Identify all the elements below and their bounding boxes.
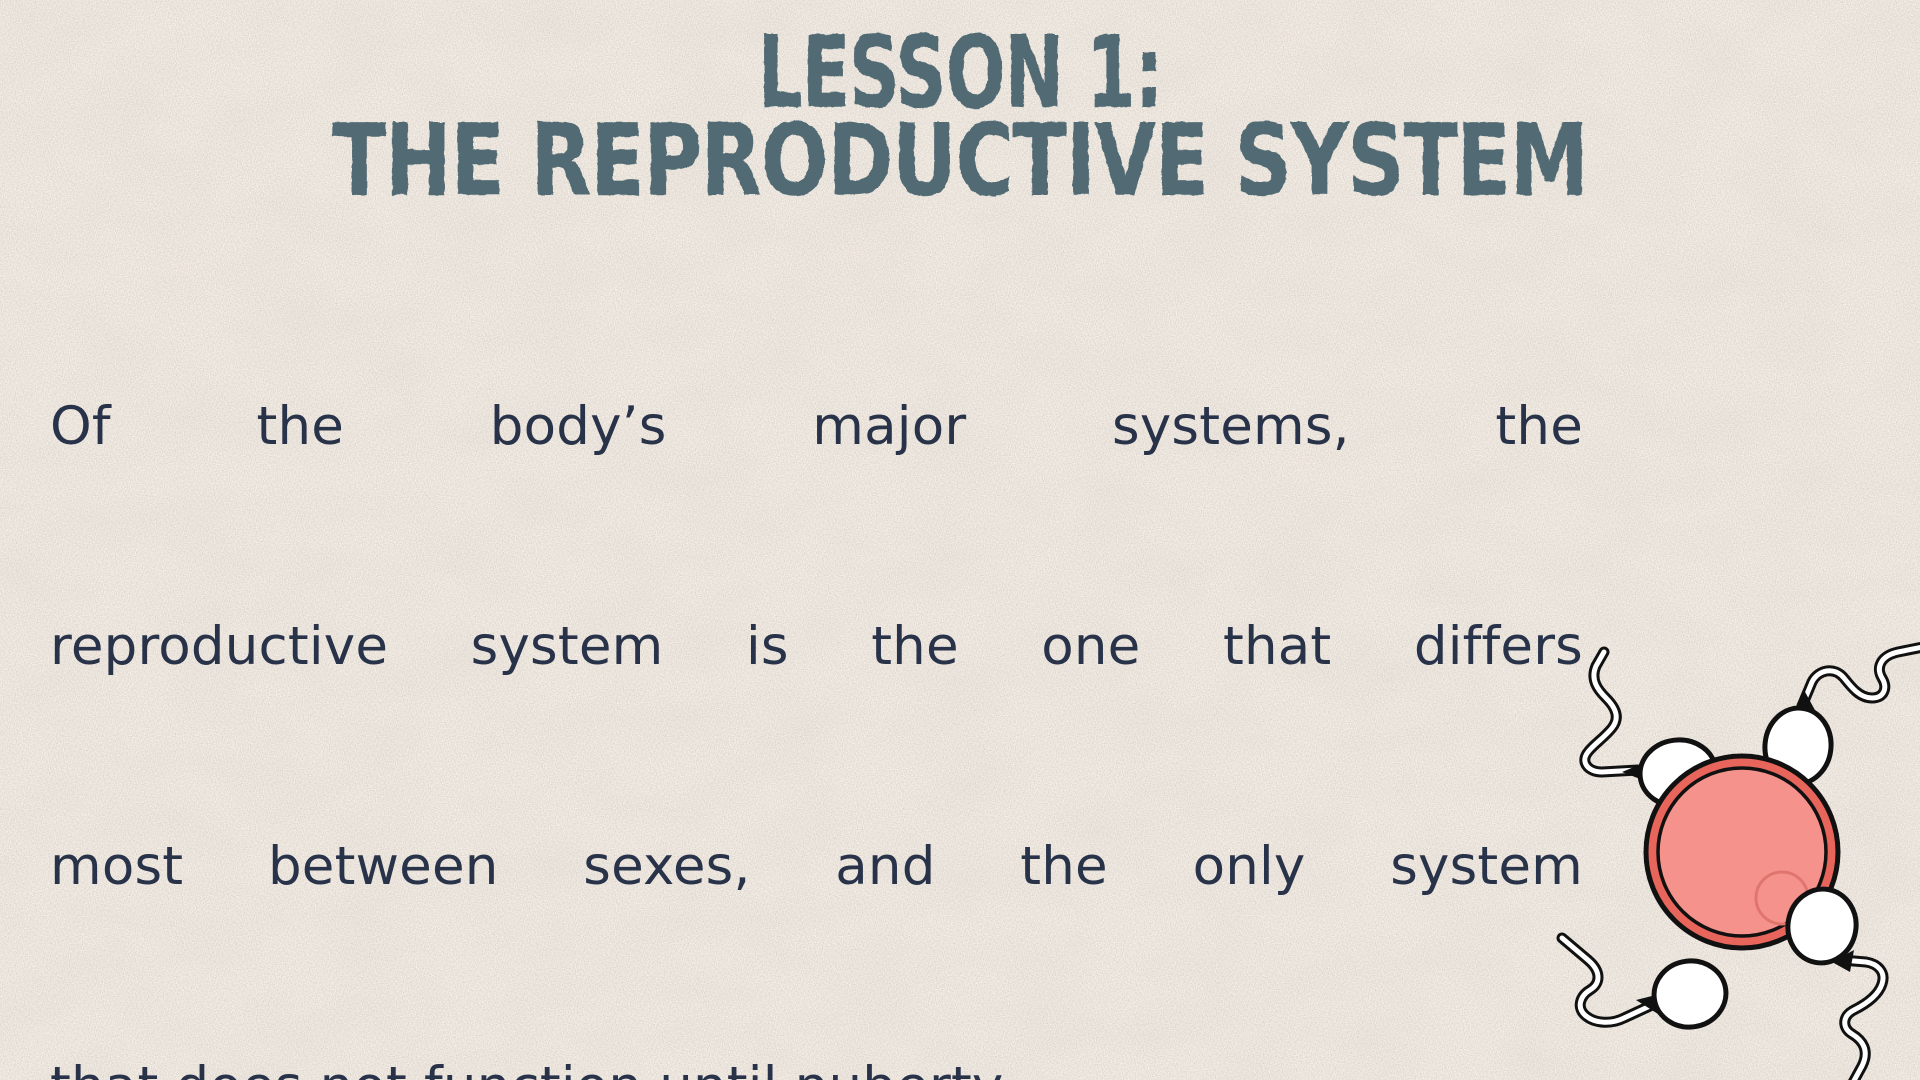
slide-canvas: LESSON 1: THE REPRODUCTIVE SYSTEM Of the… (0, 0, 1920, 1080)
body-paragraph-block: Of the body’s major systems, the reprodu… (50, 372, 1583, 1080)
body-line-1: Of the body’s major systems, the (50, 372, 1583, 592)
sperm-cell-icon-lower-left (1562, 938, 1730, 1032)
body-line-3: most between sexes, and the only system (50, 812, 1583, 1032)
slide-title: LESSON 1: THE REPRODUCTIVE SYSTEM (0, 26, 1920, 199)
fertilization-illustration (1550, 620, 1920, 1080)
body-line-2: reproductive system is the one that diff… (50, 592, 1583, 812)
sperm-cell-icon-lower-right (1782, 884, 1883, 1080)
body-line-4: that does not function until puberty. (50, 1032, 1583, 1080)
title-line-topic: THE REPRODUCTIVE SYSTEM (96, 114, 1824, 209)
